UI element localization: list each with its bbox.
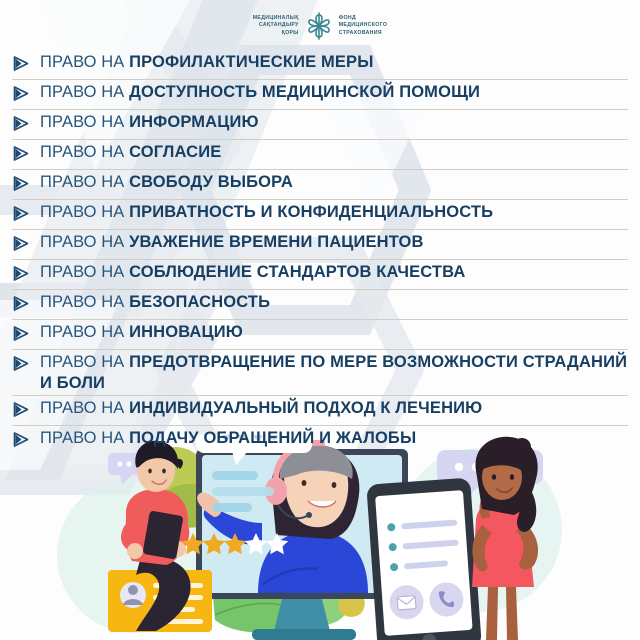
rights-item-lead: ПРАВО НА <box>40 293 124 311</box>
rights-item-lead: ПРАВО НА <box>40 263 124 281</box>
logo-text-russian: ФОНД МЕДИЦИНСКОГО СТРАХОВАНИЯ <box>339 15 388 37</box>
play-triangle-bullet-icon <box>12 175 34 192</box>
rights-item-lead: ПРАВО НА <box>40 399 124 417</box>
play-triangle-bullet-icon <box>12 205 34 222</box>
play-triangle-bullet-icon <box>12 325 34 342</box>
rights-list-item-text: ПРАВО НА ПРЕДОТВРАЩЕНИЕ ПО МЕРЕ ВОЗМОЖНО… <box>40 351 628 394</box>
illustration-canvas <box>0 435 640 640</box>
logo-ru-line-2: МЕДИЦИНСКОГО <box>339 22 388 29</box>
rights-item-lead: ПРАВО НА <box>40 323 124 341</box>
rights-list-item: ПРАВО НА ИННОВАЦИЮ <box>12 320 628 350</box>
rights-item-lead: ПРАВО НА <box>40 429 124 447</box>
rights-list-item: ПРАВО НА ПРЕДОТВРАЩЕНИЕ ПО МЕРЕ ВОЗМОЖНО… <box>12 350 628 396</box>
play-triangle-bullet-icon <box>12 295 34 312</box>
rights-item-lead: ПРАВО НА <box>40 83 124 101</box>
rights-list-item-text: ПРАВО НА ИННОВАЦИЮ <box>40 321 243 343</box>
rights-item-lead: ПРАВО НА <box>40 233 124 251</box>
rights-list: ПРАВО НА ПРОФИЛАКТИЧЕСКИЕ МЕРЫПРАВО НА Д… <box>12 50 628 456</box>
rights-item-subject: СВОБОДУ ВЫБОРА <box>129 173 293 191</box>
rights-list-item-text: ПРАВО НА ИНДИВИДУАЛЬНЫЙ ПОДХОД К ЛЕЧЕНИЮ <box>40 397 482 419</box>
support-service-illustration <box>0 435 640 640</box>
rights-list-item: ПРАВО НА СОБЛЮДЕНИЕ СТАНДАРТОВ КАЧЕСТВА <box>12 260 628 290</box>
rights-item-subject: ПРОФИЛАКТИЧЕСКИЕ МЕРЫ <box>129 53 373 71</box>
rights-list-item: ПРАВО НА ИНФОРМАЦИЮ <box>12 110 628 140</box>
rights-list-item-text: ПРАВО НА ПРОФИЛАКТИЧЕСКИЕ МЕРЫ <box>40 51 374 73</box>
play-triangle-bullet-icon <box>12 235 34 252</box>
play-triangle-bullet-icon <box>12 401 34 418</box>
play-triangle-bullet-icon <box>12 431 34 448</box>
rights-item-subject: ПРИВАТНОСТЬ И КОНФИДЕНЦИАЛЬНОСТЬ <box>129 203 493 221</box>
rights-list-item-text: ПРАВО НА БЕЗОПАСНОСТЬ <box>40 291 270 313</box>
brand-logo: МЕДИЦИНАЛЫҚ САҚТАНДЫРУ ҚОРЫ ФОНД МЕДИЦИН… <box>0 12 640 40</box>
rights-list-item-text: ПРАВО НА ПОДАЧУ ОБРАЩЕНИЙ И ЖАЛОБЫ <box>40 427 416 449</box>
rights-list-item: ПРАВО НА ИНДИВИДУАЛЬНЫЙ ПОДХОД К ЛЕЧЕНИЮ <box>12 396 628 426</box>
logo-ru-line-1: ФОНД <box>339 15 388 22</box>
smartphone-checklist-icon <box>366 478 482 640</box>
rights-list-item: ПРАВО НА ПРИВАТНОСТЬ И КОНФИДЕНЦИАЛЬНОСТ… <box>12 200 628 230</box>
rights-item-subject: СОГЛАСИЕ <box>129 143 221 161</box>
rights-list-item: ПРАВО НА ПОДАЧУ ОБРАЩЕНИЙ И ЖАЛОБЫ <box>12 426 628 456</box>
rights-item-subject: ДОСТУПНОСТЬ МЕДИЦИНСКОЙ ПОМОЩИ <box>129 83 480 101</box>
rights-list-item-text: ПРАВО НА СОГЛАСИЕ <box>40 141 221 163</box>
rights-list-item-text: ПРАВО НА СОБЛЮДЕНИЕ СТАНДАРТОВ КАЧЕСТВА <box>40 261 465 283</box>
logo-text-kazakh: МЕДИЦИНАЛЫҚ САҚТАНДЫРУ ҚОРЫ <box>253 15 299 37</box>
play-triangle-bullet-icon <box>12 145 34 162</box>
logo-kz-line-2: САҚТАНДЫРУ <box>253 22 299 29</box>
logo-kz-line-3: ҚОРЫ <box>253 30 299 37</box>
rights-item-subject: ПОДАЧУ ОБРАЩЕНИЙ И ЖАЛОБЫ <box>129 429 416 447</box>
rights-list-item-text: ПРАВО НА УВАЖЕНИЕ ВРЕМЕНИ ПАЦИЕНТОВ <box>40 231 424 253</box>
rights-item-lead: ПРАВО НА <box>40 143 124 161</box>
play-triangle-bullet-icon <box>12 55 34 72</box>
rights-list-item: ПРАВО НА БЕЗОПАСНОСТЬ <box>12 290 628 320</box>
rights-list-item: ПРАВО НА СОГЛАСИЕ <box>12 140 628 170</box>
rights-item-subject: УВАЖЕНИЕ ВРЕМЕНИ ПАЦИЕНТОВ <box>129 233 424 251</box>
rights-list-item-text: ПРАВО НА ИНФОРМАЦИЮ <box>40 111 259 133</box>
rights-item-lead: ПРАВО НА <box>40 203 124 221</box>
rights-item-lead: ПРАВО НА <box>40 53 124 71</box>
logo-ru-line-3: СТРАХОВАНИЯ <box>339 30 388 37</box>
rights-item-lead: ПРАВО НА <box>40 353 124 371</box>
rights-list-item: ПРАВО НА ДОСТУПНОСТЬ МЕДИЦИНСКОЙ ПОМОЩИ <box>12 80 628 110</box>
play-triangle-bullet-icon <box>12 115 34 132</box>
rights-list-item: ПРАВО НА ПРОФИЛАКТИЧЕСКИЕ МЕРЫ <box>12 50 628 80</box>
flower-emblem-icon <box>304 12 334 40</box>
rights-list-item-text: ПРАВО НА ДОСТУПНОСТЬ МЕДИЦИНСКОЙ ПОМОЩИ <box>40 81 480 103</box>
rights-item-subject: БЕЗОПАСНОСТЬ <box>129 293 270 311</box>
rights-item-subject: ПРЕДОТВРАЩЕНИЕ ПО МЕРЕ ВОЗМОЖНОСТИ СТРАД… <box>40 353 627 392</box>
rights-item-subject: ИНДИВИДУАЛЬНЫЙ ПОДХОД К ЛЕЧЕНИЮ <box>129 399 482 417</box>
rights-list-item-text: ПРАВО НА ПРИВАТНОСТЬ И КОНФИДЕНЦИАЛЬНОСТ… <box>40 201 493 223</box>
rights-item-subject: ИННОВАЦИЮ <box>129 323 243 341</box>
rights-item-lead: ПРАВО НА <box>40 173 124 191</box>
rights-list-item-text: ПРАВО НА СВОБОДУ ВЫБОРА <box>40 171 293 193</box>
logo-kz-line-1: МЕДИЦИНАЛЫҚ <box>253 15 299 22</box>
rights-list-item: ПРАВО НА УВАЖЕНИЕ ВРЕМЕНИ ПАЦИЕНТОВ <box>12 230 628 260</box>
infographic-page: МЕДИЦИНАЛЫҚ САҚТАНДЫРУ ҚОРЫ ФОНД МЕДИЦИН… <box>0 0 640 640</box>
rights-item-lead: ПРАВО НА <box>40 113 124 131</box>
play-triangle-bullet-icon <box>12 265 34 282</box>
play-triangle-bullet-icon <box>12 85 34 102</box>
rights-list-item: ПРАВО НА СВОБОДУ ВЫБОРА <box>12 170 628 200</box>
rights-item-subject: СОБЛЮДЕНИЕ СТАНДАРТОВ КАЧЕСТВА <box>129 263 465 281</box>
rights-item-subject: ИНФОРМАЦИЮ <box>129 113 259 131</box>
play-triangle-bullet-icon <box>12 355 34 372</box>
